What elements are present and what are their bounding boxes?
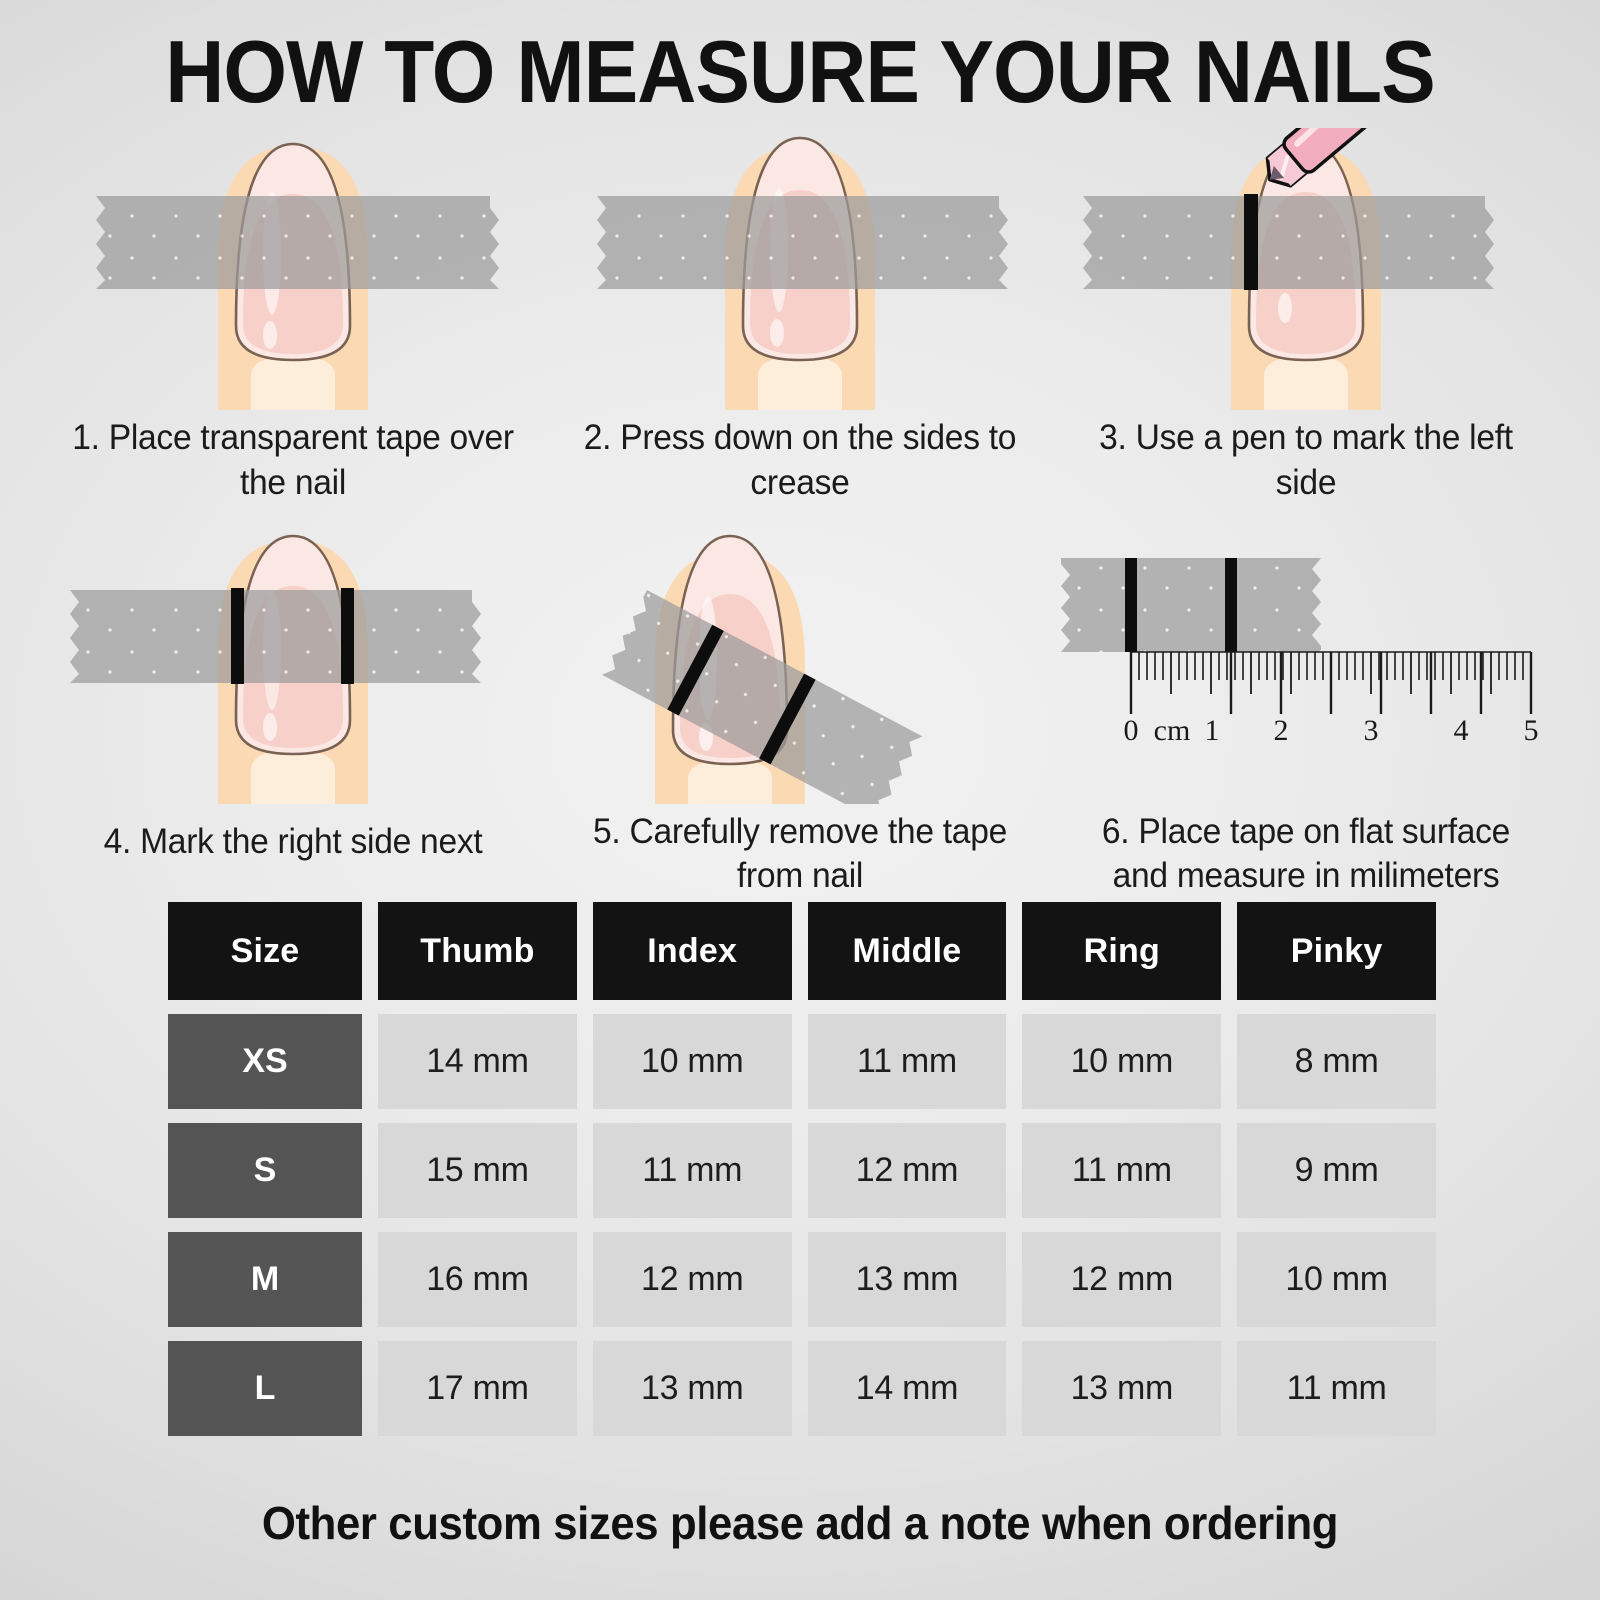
column-header-middle: Middle	[808, 902, 1007, 1000]
finger-with-creased-tape-icon	[547, 128, 1053, 410]
step-5-illustration	[547, 522, 1054, 804]
table-header-row: Size Thumb Index Middle Ring Pinky	[168, 902, 1436, 1000]
step-2: 2. Press down on the sides to crease	[547, 128, 1054, 506]
table-row: M 16 mm 12 mm 13 mm 12 mm 10 mm	[168, 1232, 1436, 1327]
table-row: L 17 mm 13 mm 14 mm 13 mm 11 mm	[168, 1341, 1436, 1436]
step-1: 1. Place transparent tape over the nail	[40, 128, 547, 506]
right-mark	[341, 588, 354, 684]
tape-on-ruler-icon: 0 cm 1 2 3 4 5	[1053, 522, 1559, 804]
step-6-illustration: 0 cm 1 2 3 4 5	[1053, 522, 1560, 804]
finger-tape-pen-left-mark-icon	[1053, 128, 1559, 410]
step-4: 4. Mark the right side next	[40, 522, 547, 900]
cell-s-index: 11 mm	[593, 1123, 792, 1218]
step-4-caption: 4. Mark the right side next	[68, 820, 519, 865]
cell-l-pinky: 11 mm	[1237, 1341, 1436, 1436]
size-label-m: M	[168, 1232, 362, 1327]
ruler-labels: 0 cm 1 2 3 4 5	[1124, 714, 1539, 747]
step-5: 5. Carefully remove the tape from nail	[547, 522, 1054, 900]
cell-s-ring: 11 mm	[1022, 1123, 1221, 1218]
ruler-label-cm: cm	[1154, 714, 1191, 747]
cell-m-thumb: 16 mm	[378, 1232, 577, 1327]
size-label-l: L	[168, 1341, 362, 1436]
cell-m-middle: 13 mm	[808, 1232, 1007, 1327]
cell-m-ring: 12 mm	[1022, 1232, 1221, 1327]
finger-tape-peeled-off-icon	[547, 522, 1053, 804]
cell-xs-ring: 10 mm	[1022, 1014, 1221, 1109]
ruler-label-0: 0	[1124, 714, 1139, 747]
finger-with-tape-icon	[40, 128, 546, 410]
step-3-illustration	[1053, 128, 1560, 410]
cell-xs-pinky: 8 mm	[1237, 1014, 1436, 1109]
left-mark	[1244, 194, 1258, 290]
tape-strip	[1061, 558, 1321, 652]
tape-strip	[1083, 196, 1494, 289]
cell-l-thumb: 17 mm	[378, 1341, 577, 1436]
cell-s-pinky: 9 mm	[1237, 1123, 1436, 1218]
cell-xs-index: 10 mm	[593, 1014, 792, 1109]
cell-s-thumb: 15 mm	[378, 1123, 577, 1218]
steps-grid: 1. Place transparent tape over the nail	[40, 128, 1560, 899]
ruler-label-2: 2	[1274, 714, 1289, 747]
step-1-caption: 1. Place transparent tape over the nail	[68, 416, 519, 506]
left-mark	[231, 588, 244, 684]
size-label-s: S	[168, 1123, 362, 1218]
steps-row-top: 1. Place transparent tape over the nail	[40, 128, 1560, 506]
footer-note: Other custom sizes please add a note whe…	[40, 1496, 1560, 1550]
size-label-xs: XS	[168, 1014, 362, 1109]
step-2-caption: 2. Press down on the sides to crease	[574, 416, 1025, 506]
tape-strip	[96, 196, 499, 289]
cell-s-middle: 12 mm	[808, 1123, 1007, 1218]
tape-strip	[597, 196, 1008, 289]
step-5-caption: 5. Carefully remove the tape from nail	[574, 810, 1025, 900]
ruler-label-1: 1	[1205, 714, 1220, 747]
page-title: HOW TO MEASURE YOUR NAILS	[56, 24, 1544, 119]
ruler-label-5: 5	[1524, 714, 1539, 747]
column-header-size: Size	[168, 902, 362, 1000]
cell-m-index: 12 mm	[593, 1232, 792, 1327]
step-6-caption: 6. Place tape on flat surface and measur…	[1081, 810, 1532, 900]
tape-mark-right	[1225, 558, 1237, 652]
column-header-thumb: Thumb	[378, 902, 577, 1000]
ruler-label-3: 3	[1364, 714, 1379, 747]
column-header-index: Index	[593, 902, 792, 1000]
table-row: S 15 mm 11 mm 12 mm 11 mm 9 mm	[168, 1123, 1436, 1218]
steps-row-bottom: 4. Mark the right side next	[40, 522, 1560, 900]
step-6: 0 cm 1 2 3 4 5 6. Place tape on flat sur…	[1053, 522, 1560, 900]
step-1-illustration	[40, 128, 547, 410]
cell-l-ring: 13 mm	[1022, 1341, 1221, 1436]
size-chart-table: Size Thumb Index Middle Ring Pinky XS 14…	[168, 902, 1436, 1450]
table-row: XS 14 mm 10 mm 11 mm 10 mm 8 mm	[168, 1014, 1436, 1109]
tape-strip	[70, 590, 481, 683]
column-header-pinky: Pinky	[1237, 902, 1436, 1000]
ruler-label-4: 4	[1454, 714, 1469, 747]
step-3: 3. Use a pen to mark the left side	[1053, 128, 1560, 506]
step-4-illustration	[40, 522, 547, 804]
infographic-page: HOW TO MEASURE YOUR NAILS	[0, 0, 1600, 1600]
cell-l-index: 13 mm	[593, 1341, 792, 1436]
cell-xs-thumb: 14 mm	[378, 1014, 577, 1109]
finger-tape-two-marks-icon	[40, 522, 546, 804]
cell-xs-middle: 11 mm	[808, 1014, 1007, 1109]
tape-mark-left	[1125, 558, 1137, 652]
step-3-caption: 3. Use a pen to mark the left side	[1081, 416, 1532, 506]
cell-m-pinky: 10 mm	[1237, 1232, 1436, 1327]
cell-l-middle: 14 mm	[808, 1341, 1007, 1436]
step-2-illustration	[547, 128, 1054, 410]
ruler	[1131, 652, 1531, 714]
column-header-ring: Ring	[1022, 902, 1221, 1000]
